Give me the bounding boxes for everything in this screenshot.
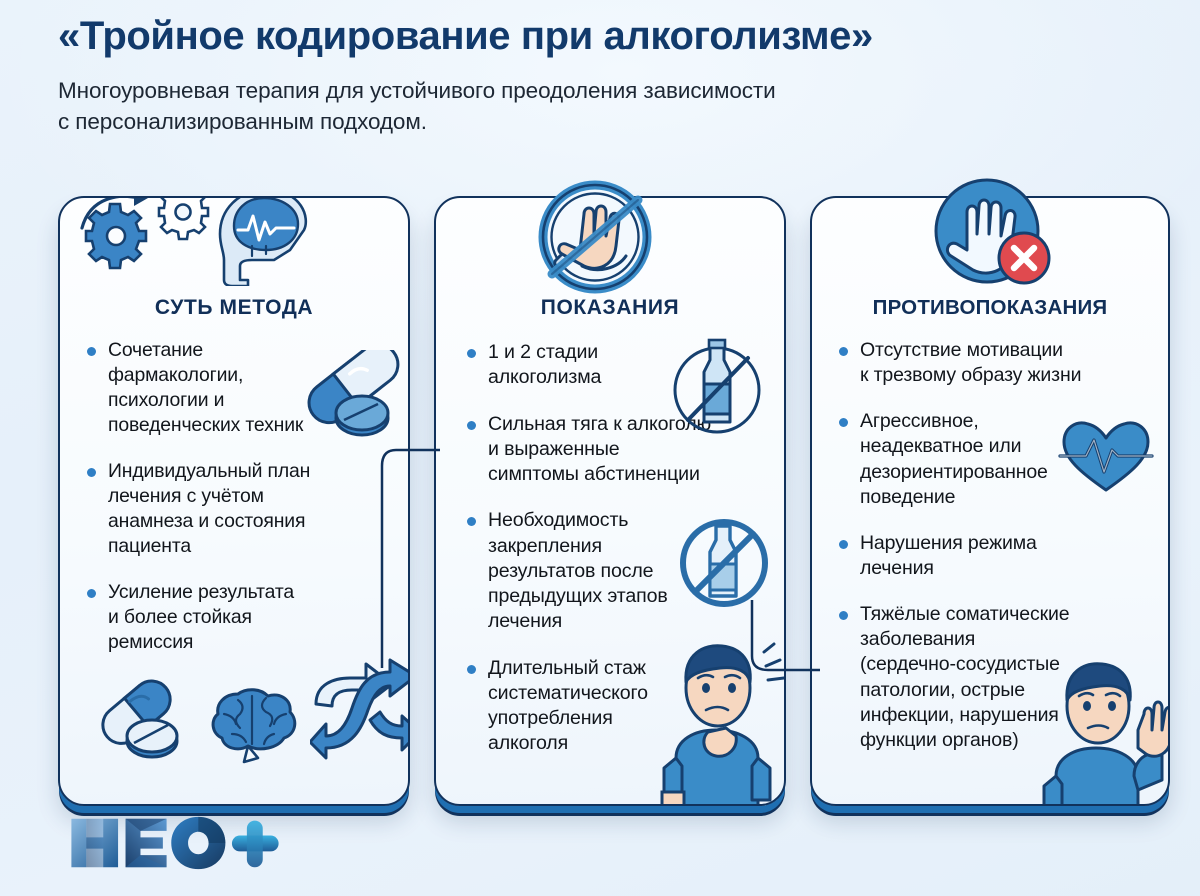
card-1-heading: СУТЬ МЕТОДА [60,296,408,320]
list-item: Нарушения режима лечения [838,531,1154,581]
bullet-dot-icon [839,611,848,620]
card-protivopokazaniya[interactable]: ПРОТИВОПОКАЗАНИЯ Отсутствие мотивации к … [810,196,1170,806]
card-sut-metoda[interactable]: СУТЬ МЕТОДА Сочетание фармакологии, псих… [58,196,410,806]
bullet-text: Необходимость закрепления результатов по… [488,508,770,634]
neo-plus-logo[interactable] [60,815,290,871]
brain-icon [208,680,304,766]
list-item: Необходимость закрепления результатов по… [466,508,770,634]
list-item: Отсутствие мотивации к трезвому образу ж… [838,338,1154,388]
page-subtitle-line-2: с персонализированным подходом. [58,106,1158,137]
list-item: Усиление результата и более стойкая реми… [86,580,392,655]
list-item: Сочетание фармакологии, психологии и пов… [86,338,392,438]
no-hand-prohibition-icon [532,174,658,300]
pills-icon [88,676,188,766]
bullet-dot-icon [467,421,476,430]
card-3-heading: ПРОТИВОПОКАЗАНИЯ [812,296,1168,320]
bullet-text: 1 и 2 стадии алкоголизма [488,340,770,391]
connector-card2-card3 [748,596,828,726]
page-subtitle: Многоуровневая терапия для устойчивого п… [58,75,1158,137]
bullet-dot-icon [467,349,476,358]
page-title: «Тройное кодирование при алкоголизме» [58,14,1158,59]
gears-and-brain-head-icon [68,198,318,286]
bullet-text: Усиление результата и более стойкая реми… [108,580,392,655]
card-3-bullets: Отсутствие мотивации к трезвому образу ж… [838,338,1154,753]
cards-row: СУТЬ МЕТОДА Сочетание фармакологии, псих… [0,196,1200,822]
bullet-text: Тяжёлые соматические заболевания (сердеч… [860,602,1154,753]
bullet-text: Сочетание фармакологии, психологии и пов… [108,338,392,438]
page-subtitle-line-1: Многоуровневая терапия для устойчивого п… [58,75,1158,106]
bullet-text: Нарушения режима лечения [860,531,1154,581]
connector-card1-card2 [372,444,452,674]
bullet-text: Агрессивное, неадекватное или дезориенти… [860,409,1154,510]
stop-hand-with-red-cross-icon [927,176,1057,298]
card-2-bullets: 1 и 2 стадии алкоголизма Сильная тяга к … [466,340,770,757]
list-item: 1 и 2 стадии алкоголизма [466,340,770,391]
list-item: Индивидуальный план лечения с учётом ана… [86,459,392,559]
list-item: Тяжёлые соматические заболевания (сердеч… [838,602,1154,753]
bullet-text: Длительный стаж систематического употреб… [488,656,770,757]
bullet-text: Сильная тяга к алкоголю и выраженные сим… [488,412,770,488]
card-pokazaniya[interactable]: ПОКАЗАНИЯ 1 и 2 стадии алкоголизма Сильн… [434,196,786,806]
header: «Тройное кодирование при алкоголизме» Мн… [58,14,1158,137]
bullet-dot-icon [467,665,476,674]
bullet-dot-icon [839,347,848,356]
bullet-text: Отсутствие мотивации к трезвому образу ж… [860,338,1154,388]
card-1-bullets: Сочетание фармакологии, психологии и пов… [86,338,392,655]
bullet-dot-icon [467,517,476,526]
list-item: Агрессивное, неадекватное или дезориенти… [838,409,1154,510]
list-item: Длительный стаж систематического употреб… [466,656,770,757]
infographic-page: «Тройное кодирование при алкоголизме» Мн… [0,0,1200,896]
bullet-dot-icon [87,589,96,598]
bullet-dot-icon [839,418,848,427]
list-item: Сильная тяга к алкоголю и выраженные сим… [466,412,770,488]
bullet-dot-icon [87,468,96,477]
card-1-inner: СУТЬ МЕТОДА Сочетание фармакологии, псих… [60,198,408,804]
bullet-dot-icon [87,347,96,356]
bullet-dot-icon [839,540,848,549]
bullet-text: Индивидуальный план лечения с учётом ана… [108,459,392,559]
